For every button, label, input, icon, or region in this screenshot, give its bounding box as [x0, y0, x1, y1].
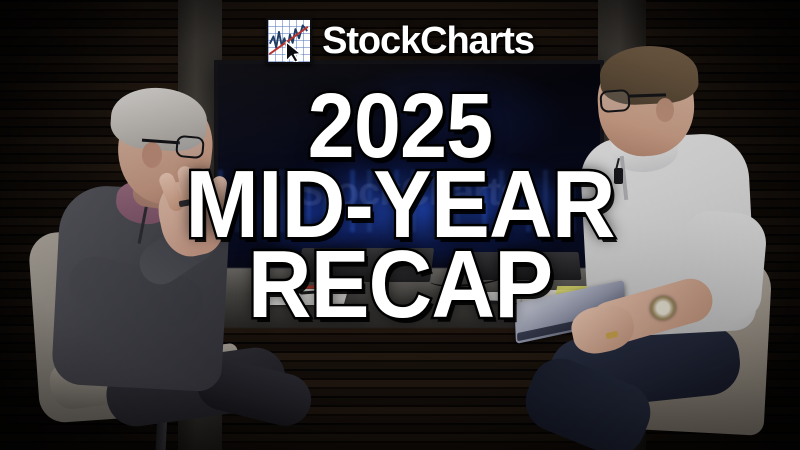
- left-person-glasses-lens: [175, 135, 205, 159]
- person-left: [10, 70, 280, 450]
- lapel-mic: [614, 168, 623, 184]
- video-thumbnail: StockCharts: [0, 0, 800, 450]
- laptop-left: [298, 248, 434, 282]
- right-person-glasses-lens: [599, 89, 630, 113]
- right-person-ear: [656, 98, 674, 122]
- stock-chart-cursor-icon: [266, 18, 312, 64]
- brand-logo: StockCharts: [0, 18, 800, 64]
- person-right: [556, 40, 800, 450]
- brand-name: StockCharts: [322, 22, 534, 60]
- chart-lines-svg: [268, 20, 310, 62]
- left-person-ear: [142, 142, 162, 168]
